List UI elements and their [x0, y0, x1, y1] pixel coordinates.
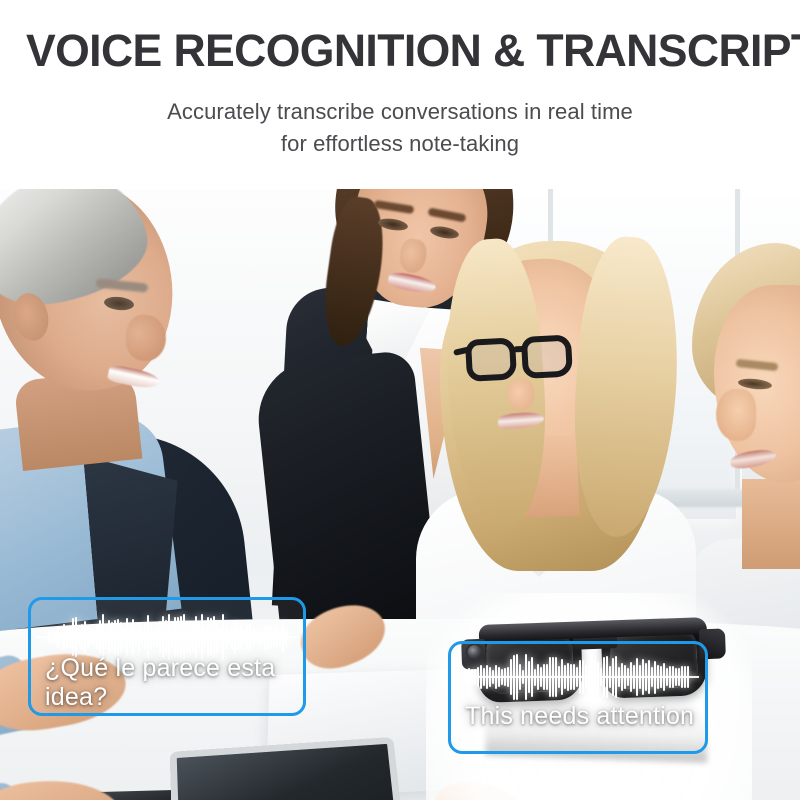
subtitle-line-2: for effortless note-taking [0, 128, 800, 160]
page-subtitle: Accurately transcribe conversations in r… [0, 96, 800, 160]
audio-waveform-icon [451, 650, 705, 704]
header-block: VOICE RECOGNITION & TRANSCRIPTION Accura… [0, 0, 800, 190]
eyeglasses-lens-left [465, 337, 517, 382]
eyeglasses-icon [465, 334, 579, 384]
right-man-nose [716, 389, 756, 441]
product-feature-banner: VOICE RECOGNITION & TRANSCRIPTION Accura… [0, 0, 800, 800]
transcription-bubble-spanish: ¿Qué le parece esta idea? [28, 597, 306, 716]
glasses-woman-nose [508, 379, 534, 411]
page-title: VOICE RECOGNITION & TRANSCRIPTION [26, 28, 769, 73]
subtitle-line-1: Accurately transcribe conversations in r… [0, 96, 800, 128]
right-man-neck [742, 479, 800, 569]
eyeglasses-lens-right [521, 334, 573, 379]
transcription-text: This needs attention [465, 702, 705, 731]
transcription-bubble-attention: This needs attention [448, 641, 708, 754]
transcription-text: ¿Qué le parece esta idea? [45, 654, 303, 712]
scene-photo: ¿Qué le parece esta idea? This needs att… [0, 189, 800, 800]
